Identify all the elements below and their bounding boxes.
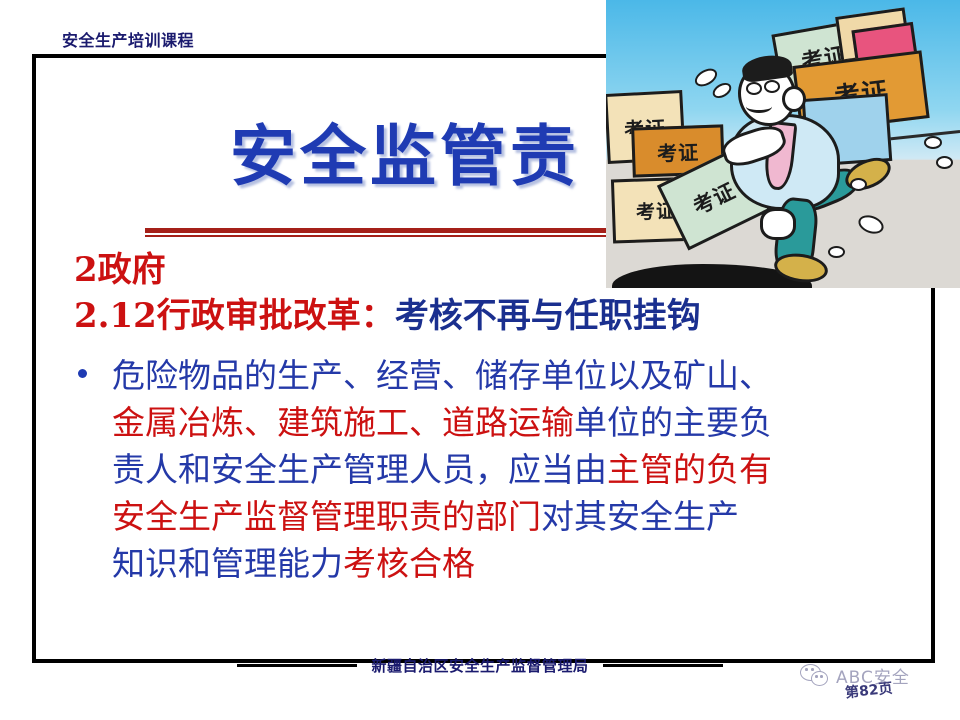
- pebble-shape: [936, 156, 953, 169]
- footer-rule-left: [237, 664, 357, 667]
- subsection-number-text: 2.12行政审批改革：: [74, 296, 395, 336]
- sweat-drop-icon: [828, 246, 845, 258]
- cartoon-mouth: [746, 100, 772, 113]
- cartoon-hand: [760, 208, 796, 240]
- watermark-label: ABC安全: [836, 663, 910, 688]
- bullet-run: 危险物品的生产、经营、储存单位以及矿山、: [112, 356, 772, 395]
- bullet-line-2: 金属冶炼、建筑施工、道路运输单位的主要负: [112, 399, 930, 446]
- slide-body: 2政府 2.12行政审批改革：考核不再与任职挂钩 危险物品的生产、经营、储存单位…: [70, 248, 930, 587]
- footer-rule-right: [603, 664, 723, 667]
- cartoon-man: [716, 56, 886, 276]
- page-title: 安全监管责: [230, 103, 580, 199]
- title-underline-rule: [145, 228, 632, 233]
- slide-canvas: 安全生产培训课程 安全监管责 2政府 2.12行政审批改革：考核不再与任职挂钩 …: [0, 0, 960, 720]
- bullet-run: 安全生产监督管理职责的部门: [112, 497, 541, 536]
- footer-organization-label: 新疆自治区安全生产监督管理局: [371, 655, 588, 676]
- bullet-run: 主管的负有: [607, 450, 772, 489]
- bullet-line-3: 责人和安全生产管理人员，应当由主管的负有: [112, 446, 930, 493]
- illustration-cartoon: 考证 考证 考证 考证 考证 考证: [606, 0, 960, 288]
- bullet-line-1: 危险物品的生产、经营、储存单位以及矿山、: [112, 352, 930, 399]
- course-header-label: 安全生产培训课程: [62, 27, 194, 51]
- pebble-shape: [924, 136, 942, 149]
- bullet-run: 考核合格: [343, 544, 475, 583]
- bullet-run: 金属冶炼、建筑施工、道路运输: [112, 403, 574, 442]
- bullet-run: 单位的主要负: [574, 403, 772, 442]
- bullet-paragraph: 危险物品的生产、经营、储存单位以及矿山、 金属冶炼、建筑施工、道路运输单位的主要…: [70, 352, 930, 587]
- bullet-line-4: 安全生产监督管理职责的部门对其安全生产: [112, 493, 930, 540]
- bullet-point-icon: [78, 369, 87, 378]
- bullet-run: 责人和安全生产管理人员，应当由: [112, 450, 607, 489]
- bullet-line-5: 知识和管理能力考核合格: [112, 540, 930, 587]
- cartoon-ear: [782, 86, 806, 112]
- sweat-drop-icon: [856, 212, 886, 237]
- subsection-title-text: 考核不再与任职挂钩: [395, 296, 701, 336]
- bullet-run: 知识和管理能力: [112, 544, 343, 583]
- cartoon-eye: [746, 82, 762, 95]
- pebble-shape: [850, 178, 867, 191]
- wechat-icon: [800, 662, 830, 688]
- watermark: ABC安全: [800, 662, 910, 688]
- cartoon-eye: [764, 80, 780, 93]
- bullet-run: 对其安全生产: [541, 497, 739, 536]
- section-heading-text: 2政府: [74, 250, 166, 290]
- subsection-heading: 2.12行政审批改革：考核不再与任职挂钩: [70, 294, 930, 338]
